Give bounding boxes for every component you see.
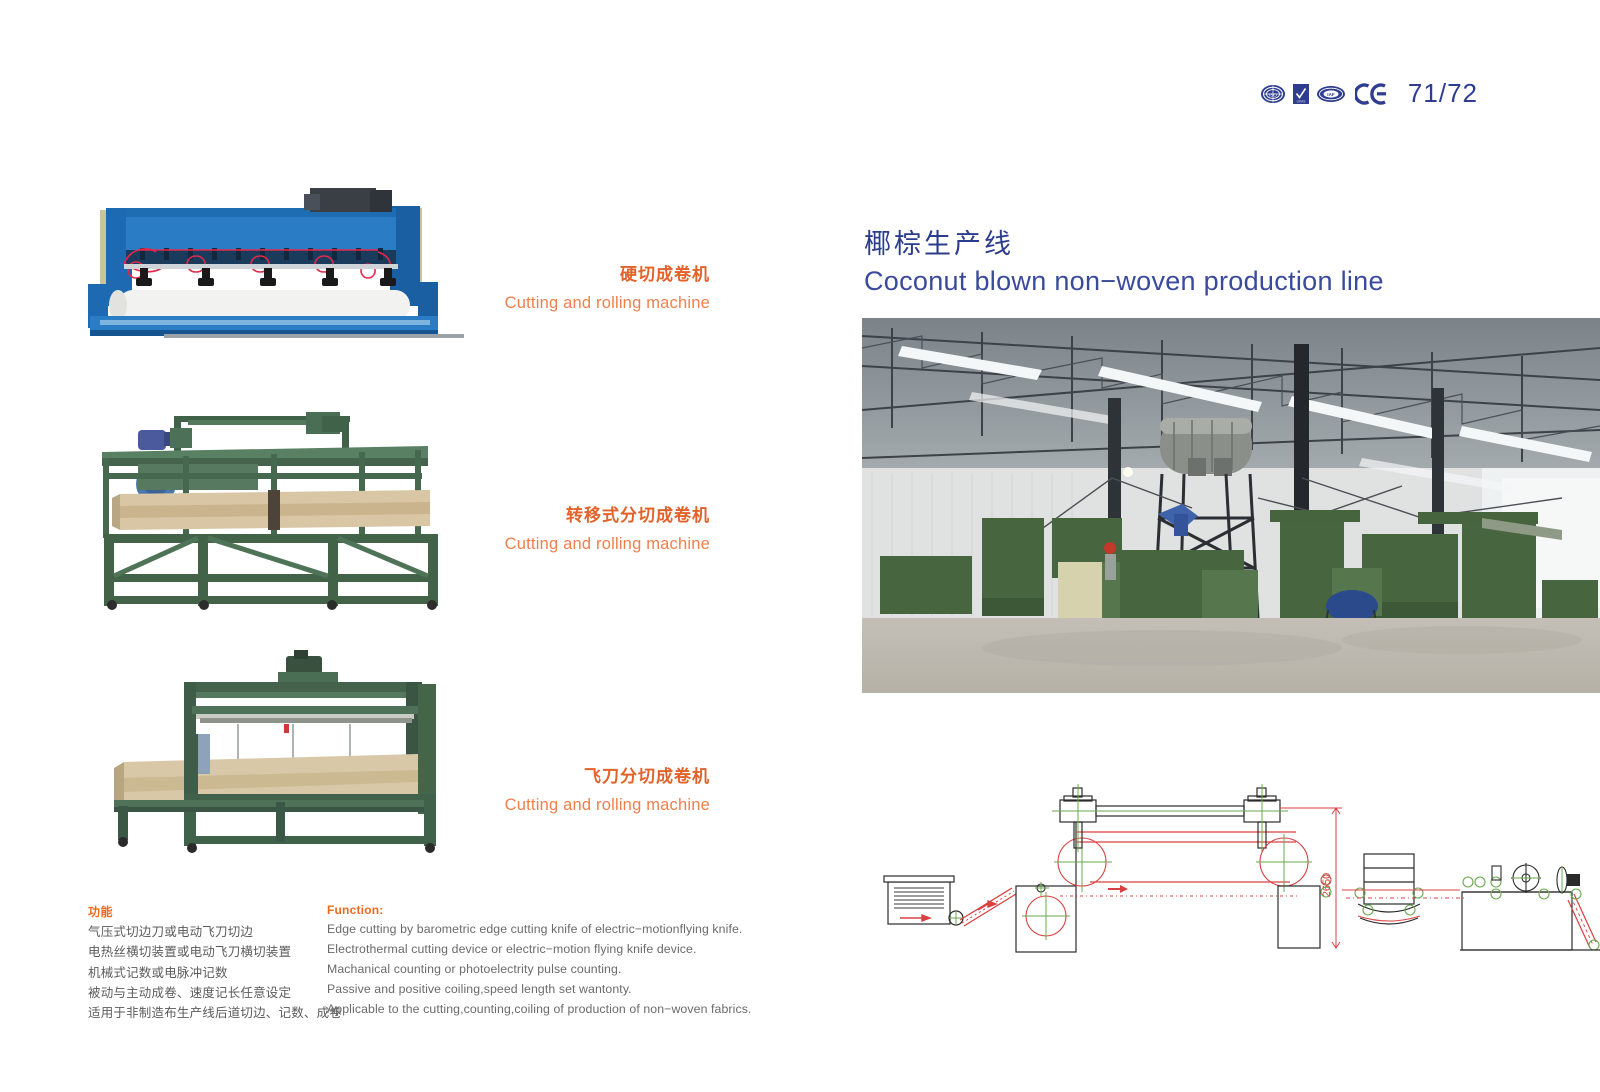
left-column: 硬切成卷机 Cutting and rolling machine (0, 0, 800, 1092)
product-name-cn-3: 飞刀分切成卷机 (410, 765, 710, 790)
right-column: 椰棕生产线 Coconut blown non−woven production… (800, 0, 1600, 1092)
function-line-en-4: Passive and positive coiling,speed lengt… (327, 979, 747, 999)
function-line-cn-2: 电热丝横切装置或电动飞刀横切装置 (88, 942, 338, 962)
function-block-cn: 功能 气压式切边刀或电动飞刀切边 电热丝横切装置或电动飞刀横切装置 机械式记数或… (88, 903, 338, 1023)
function-heading-en: Function: (327, 903, 747, 917)
function-line-en-2: Electrothermal cutting device or electri… (327, 939, 747, 959)
product-name-en-3: Cutting and rolling machine (410, 794, 710, 818)
product-name-cn-1: 硬切成卷机 (410, 263, 710, 288)
product-caption-2: 转移式分切成卷机 Cutting and rolling machine (410, 504, 710, 557)
brochure-page: ISO UKAS IAF 71/72 (0, 0, 1600, 1092)
function-line-en-1: Edge cutting by barometric edge cutting … (327, 919, 747, 939)
product-caption-3: 飞刀分切成卷机 Cutting and rolling machine (410, 765, 710, 818)
product-name-en-2: Cutting and rolling machine (410, 533, 710, 557)
product-name-en-1: Cutting and rolling machine (410, 292, 710, 316)
function-line-cn-3: 机械式记数或电脉冲记数 (88, 963, 338, 983)
function-line-cn-1: 气压式切边刀或电动飞刀切边 (88, 922, 338, 942)
product-caption-1: 硬切成卷机 Cutting and rolling machine (410, 263, 710, 316)
dimension-label-2650: 2650 (1321, 873, 1333, 897)
function-heading-cn: 功能 (88, 903, 338, 920)
coconut-production-line-factory-photo (862, 318, 1600, 693)
product-name-cn-2: 转移式分切成卷机 (410, 504, 710, 529)
function-line-cn-4: 被动与主动成卷、速度记长任意设定 (88, 983, 338, 1003)
function-line-en-5: Applicable to the cutting,counting,coili… (327, 999, 747, 1019)
production-line-layout-diagram: 2650 (860, 770, 1600, 960)
hard-cutting-rolling-machine-photo (78, 178, 470, 346)
function-line-cn-5: 适用于非制造布生产线后道切边、记数、成卷 (88, 1003, 338, 1023)
flying-knife-slitting-rolling-machine-photo (88, 650, 470, 855)
function-block-en: Function: Edge cutting by barometric edg… (327, 903, 747, 1019)
section-title-cn: 椰棕生产线 (864, 228, 1384, 260)
section-title-en: Coconut blown non−woven production line (864, 264, 1384, 299)
function-line-en-3: Machanical counting or photoelectrity pu… (327, 959, 747, 979)
section-title: 椰棕生产线 Coconut blown non−woven production… (864, 228, 1384, 299)
